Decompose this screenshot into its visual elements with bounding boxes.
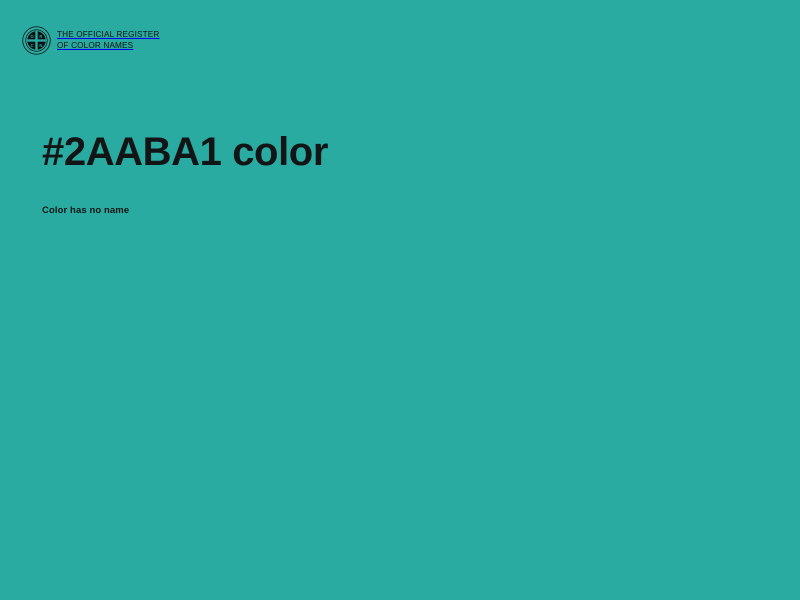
color-info-block: #2AABA1 color Color has no name (42, 128, 742, 217)
color-page: O R C N THE OFFICIAL REGISTER OF COLOR N… (0, 0, 800, 600)
svg-text:N: N (39, 43, 42, 48)
brand-wordmark: THE OFFICIAL REGISTER OF COLOR NAMES (57, 30, 159, 50)
svg-text:C: C (31, 43, 34, 48)
brand-line-2: OF COLOR NAMES (57, 41, 159, 51)
color-name-status: Color has no name (42, 176, 742, 217)
brand-logo-link[interactable]: O R C N THE OFFICIAL REGISTER OF COLOR N… (22, 26, 159, 55)
page-title: #2AABA1 color (42, 128, 742, 176)
brand-line-1: THE OFFICIAL REGISTER (57, 30, 159, 40)
register-seal-icon: O R C N (22, 26, 51, 55)
svg-text:R: R (39, 34, 42, 39)
